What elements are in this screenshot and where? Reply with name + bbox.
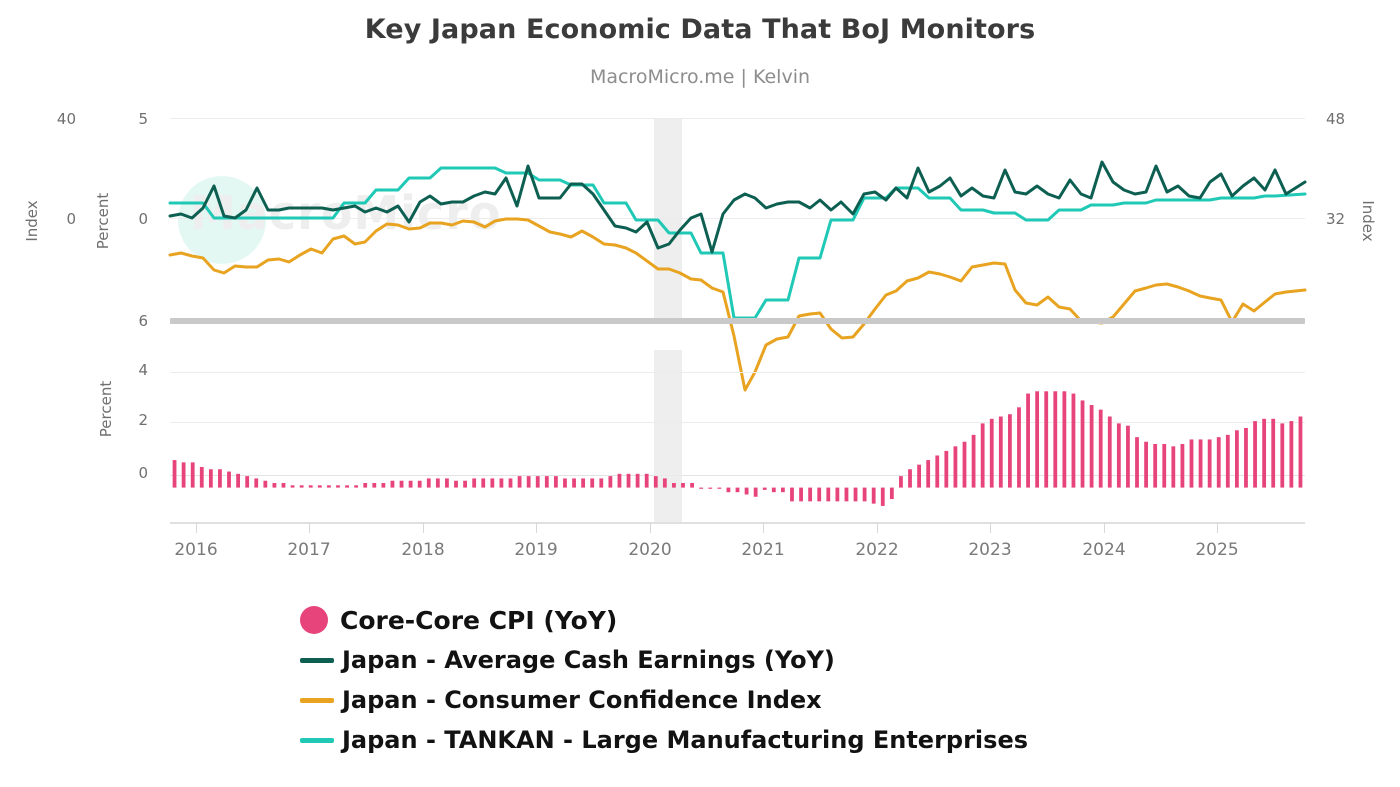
bar-core-core-cpi bbox=[1181, 444, 1185, 488]
bar-core-core-cpi bbox=[200, 467, 204, 488]
bar-core-core-cpi bbox=[1081, 400, 1085, 487]
bar-core-core-cpi bbox=[926, 460, 930, 488]
bar-core-core-cpi bbox=[481, 478, 485, 487]
bar-core-core-cpi bbox=[681, 483, 685, 488]
bar-core-core-cpi bbox=[1217, 437, 1221, 487]
bar-core-core-cpi bbox=[400, 481, 404, 488]
x-tick-5 bbox=[763, 522, 764, 533]
bar-core-core-cpi bbox=[1244, 428, 1248, 488]
bar-core-core-cpi bbox=[345, 485, 349, 487]
legend-line-icon-consumer-confidence-index bbox=[300, 698, 334, 703]
x-tick-label-2019: 2019 bbox=[514, 540, 557, 560]
upper-plot-panel bbox=[170, 118, 1305, 318]
bar-core-core-cpi bbox=[890, 488, 894, 499]
x-tick-label-2017: 2017 bbox=[287, 540, 330, 560]
bar-core-core-cpi bbox=[472, 478, 476, 487]
bar-core-core-cpi bbox=[608, 476, 612, 487]
legend-item-core-core-cpi[interactable]: Core-Core CPI (YoY) bbox=[300, 600, 1200, 640]
bar-core-core-cpi bbox=[618, 474, 622, 488]
legend-label-consumer-confidence-index: Japan - Consumer Confidence Index bbox=[342, 686, 822, 714]
bar-core-core-cpi bbox=[727, 488, 731, 493]
bar-core-core-cpi bbox=[1062, 391, 1066, 487]
bar-core-core-cpi bbox=[1162, 444, 1166, 488]
bar-core-core-cpi bbox=[708, 488, 712, 489]
bar-core-core-cpi bbox=[1035, 391, 1039, 487]
bar-core-core-cpi bbox=[463, 481, 467, 488]
bar-core-core-cpi bbox=[1208, 439, 1212, 487]
x-tick-0 bbox=[196, 522, 197, 533]
bar-core-core-cpi bbox=[500, 478, 504, 487]
bar-core-core-cpi bbox=[717, 488, 721, 489]
bar-core-core-cpi bbox=[1099, 410, 1103, 488]
bar-core-core-cpi bbox=[227, 472, 231, 488]
bar-core-core-cpi bbox=[218, 469, 222, 487]
bar-core-core-cpi bbox=[799, 488, 803, 502]
x-tick-9 bbox=[1217, 522, 1218, 533]
y-tick-index-left-40: 40 bbox=[28, 110, 76, 128]
bar-core-core-cpi bbox=[245, 476, 249, 487]
lower-plot-panel bbox=[170, 350, 1305, 522]
legend-line-icon-average-cash-earnings bbox=[300, 658, 334, 663]
bar-core-core-cpi bbox=[509, 478, 513, 487]
bar-core-core-cpi bbox=[236, 474, 240, 488]
bar-core-core-cpi bbox=[263, 481, 267, 488]
bar-core-core-cpi bbox=[772, 488, 776, 493]
bar-core-core-cpi bbox=[1053, 391, 1057, 487]
bar-core-core-cpi bbox=[826, 488, 830, 502]
bar-core-core-cpi bbox=[1144, 442, 1148, 488]
legend-label-average-cash-earnings: Japan - Average Cash Earnings (YoY) bbox=[342, 646, 835, 674]
bar-core-core-cpi bbox=[908, 469, 912, 487]
bar-core-core-cpi bbox=[300, 485, 304, 487]
bar-core-core-cpi bbox=[699, 488, 703, 489]
bar-core-core-cpi bbox=[972, 435, 976, 488]
bar-core-core-cpi bbox=[1117, 423, 1121, 487]
chart-legend: Core-Core CPI (YoY) Japan - Average Cash… bbox=[300, 600, 1200, 760]
bar-core-core-cpi bbox=[527, 476, 531, 487]
bar-core-core-cpi bbox=[817, 488, 821, 502]
bar-core-core-cpi bbox=[372, 483, 376, 488]
bar-core-core-cpi bbox=[445, 478, 449, 487]
bar-core-core-cpi bbox=[899, 476, 903, 487]
x-tick-6 bbox=[877, 522, 878, 533]
x-tick-label-2016: 2016 bbox=[174, 540, 217, 560]
bar-core-core-cpi bbox=[436, 478, 440, 487]
x-tick-8 bbox=[1104, 522, 1105, 533]
y-tick-index-right-48: 48 bbox=[1326, 110, 1374, 128]
x-tick-label-2018: 2018 bbox=[401, 540, 444, 560]
chart-subtitle: MacroMicro.me | Kelvin bbox=[0, 66, 1400, 88]
bar-core-core-cpi bbox=[736, 488, 740, 493]
bar-core-core-cpi bbox=[391, 481, 395, 488]
x-tick-label-2020: 2020 bbox=[628, 540, 671, 560]
bar-core-core-cpi bbox=[545, 476, 549, 487]
bar-core-core-cpi bbox=[981, 423, 985, 487]
bar-core-core-cpi bbox=[191, 462, 195, 487]
bar-core-core-cpi bbox=[354, 485, 358, 487]
bar-core-core-cpi bbox=[790, 488, 794, 502]
y-axis-title-index-right: Index bbox=[1359, 191, 1377, 251]
bar-core-core-cpi bbox=[872, 488, 876, 504]
bar-core-core-cpi bbox=[381, 483, 385, 488]
bar-core-core-cpi bbox=[336, 485, 340, 487]
y-axis-title-percent-upper: Percent bbox=[94, 181, 112, 261]
bar-core-core-cpi bbox=[291, 485, 295, 487]
chart-title: Key Japan Economic Data That BoJ Monitor… bbox=[0, 14, 1400, 45]
bar-core-core-cpi bbox=[599, 478, 603, 487]
bar-core-core-cpi bbox=[1289, 421, 1293, 488]
legend-dot-icon-core-core-cpi bbox=[300, 606, 328, 634]
bar-core-core-cpi bbox=[1008, 414, 1012, 487]
legend-line-icon-tankan-large-manufacturing bbox=[300, 738, 334, 743]
bar-core-core-cpi bbox=[1090, 405, 1094, 488]
bar-core-core-cpi bbox=[999, 417, 1003, 488]
bar-core-core-cpi bbox=[654, 476, 658, 487]
bar-core-core-cpi bbox=[1226, 435, 1230, 488]
bar-core-core-cpi bbox=[1017, 407, 1021, 487]
y-tick-percent-lower-0: 0 bbox=[100, 464, 148, 482]
bar-core-core-cpi bbox=[273, 483, 277, 488]
bar-core-core-cpi bbox=[690, 483, 694, 488]
upper-series-svg bbox=[170, 118, 1305, 318]
chart-root: Key Japan Economic Data That BoJ Monitor… bbox=[0, 0, 1400, 787]
bar-core-core-cpi bbox=[1280, 423, 1284, 487]
bar-core-core-cpi bbox=[1253, 421, 1257, 488]
bar-core-core-cpi bbox=[944, 451, 948, 488]
legend-item-average-cash-earnings[interactable]: Japan - Average Cash Earnings (YoY) bbox=[300, 640, 1200, 680]
bar-core-core-cpi bbox=[645, 474, 649, 488]
bar-core-core-cpi bbox=[990, 419, 994, 488]
bar-core-core-cpi bbox=[808, 488, 812, 502]
bar-core-core-cpi bbox=[1108, 417, 1112, 488]
bar-core-core-cpi bbox=[636, 474, 640, 488]
bar-core-core-cpi bbox=[427, 478, 431, 487]
bar-core-core-cpi bbox=[282, 483, 286, 488]
bar-core-core-cpi bbox=[327, 485, 331, 487]
bar-core-core-cpi bbox=[1299, 417, 1303, 488]
bar-core-core-cpi bbox=[418, 481, 422, 488]
x-tick-1 bbox=[309, 522, 310, 533]
bar-core-core-cpi bbox=[536, 476, 540, 487]
bar-core-core-cpi bbox=[754, 488, 758, 497]
lower-bars-svg bbox=[170, 350, 1305, 522]
x-tick-label-2022: 2022 bbox=[855, 540, 898, 560]
bar-core-core-cpi bbox=[318, 485, 322, 487]
bar-core-core-cpi bbox=[554, 476, 558, 487]
legend-label-core-core-cpi: Core-Core CPI (YoY) bbox=[340, 606, 617, 635]
y-axis-title-percent-lower: Percent bbox=[97, 369, 115, 449]
bar-core-core-cpi bbox=[209, 469, 213, 487]
x-tick-7 bbox=[990, 522, 991, 533]
bar-core-core-cpi bbox=[672, 483, 676, 488]
panel-divider bbox=[170, 318, 1305, 324]
x-tick-label-2024: 2024 bbox=[1082, 540, 1125, 560]
bar-core-core-cpi bbox=[763, 488, 767, 490]
y-tick-percent-lower-6: 6 bbox=[100, 312, 148, 330]
bar-core-core-cpi bbox=[182, 462, 186, 487]
bar-group-core-core-cpi bbox=[173, 391, 1303, 506]
line-tankan-large-manufacturing bbox=[170, 168, 1305, 318]
x-tick-label-2023: 2023 bbox=[968, 540, 1011, 560]
bar-core-core-cpi bbox=[917, 465, 921, 488]
bar-core-core-cpi bbox=[454, 481, 458, 488]
bar-core-core-cpi bbox=[254, 478, 258, 487]
bar-core-core-cpi bbox=[781, 488, 785, 493]
bar-core-core-cpi bbox=[363, 483, 367, 488]
bar-core-core-cpi bbox=[1044, 391, 1048, 487]
bar-core-core-cpi bbox=[490, 478, 494, 487]
legend-item-tankan-large-manufacturing[interactable]: Japan - TANKAN - Large Manufacturing Ent… bbox=[300, 720, 1200, 760]
bar-core-core-cpi bbox=[854, 488, 858, 502]
bar-core-core-cpi bbox=[590, 478, 594, 487]
bar-core-core-cpi bbox=[1235, 430, 1239, 487]
bar-core-core-cpi bbox=[581, 478, 585, 487]
bar-core-core-cpi bbox=[518, 476, 522, 487]
x-tick-label-2021: 2021 bbox=[741, 540, 784, 560]
bar-core-core-cpi bbox=[563, 478, 567, 487]
bar-core-core-cpi bbox=[572, 478, 576, 487]
bar-core-core-cpi bbox=[835, 488, 839, 502]
bar-core-core-cpi bbox=[1153, 444, 1157, 488]
bar-core-core-cpi bbox=[173, 460, 177, 488]
bar-core-core-cpi bbox=[1135, 437, 1139, 487]
x-tick-2 bbox=[423, 522, 424, 533]
y-axis-title-index-left: Index bbox=[23, 191, 41, 251]
legend-label-tankan-large-manufacturing: Japan - TANKAN - Large Manufacturing Ent… bbox=[342, 726, 1028, 754]
bar-core-core-cpi bbox=[1171, 446, 1175, 487]
bar-core-core-cpi bbox=[935, 455, 939, 487]
bar-core-core-cpi bbox=[1262, 419, 1266, 488]
bar-core-core-cpi bbox=[663, 478, 667, 487]
bar-core-core-cpi bbox=[1199, 439, 1203, 487]
x-tick-3 bbox=[536, 522, 537, 533]
bar-core-core-cpi bbox=[409, 481, 413, 488]
bar-core-core-cpi bbox=[845, 488, 849, 502]
bar-core-core-cpi bbox=[1126, 426, 1130, 488]
bar-core-core-cpi bbox=[863, 488, 867, 502]
bar-core-core-cpi bbox=[1190, 439, 1194, 487]
bar-core-core-cpi bbox=[627, 474, 631, 488]
bar-core-core-cpi bbox=[745, 488, 749, 495]
bar-core-core-cpi bbox=[309, 485, 313, 487]
x-tick-4 bbox=[650, 522, 651, 533]
x-axis-line bbox=[170, 522, 1305, 524]
bar-core-core-cpi bbox=[963, 442, 967, 488]
y-tick-percent-upper-5: 5 bbox=[100, 110, 148, 128]
bar-core-core-cpi bbox=[881, 488, 885, 506]
bar-core-core-cpi bbox=[1026, 394, 1030, 488]
legend-item-consumer-confidence-index[interactable]: Japan - Consumer Confidence Index bbox=[300, 680, 1200, 720]
bar-core-core-cpi bbox=[1271, 419, 1275, 488]
bar-core-core-cpi bbox=[1072, 394, 1076, 488]
x-tick-label-2025: 2025 bbox=[1195, 540, 1238, 560]
bar-core-core-cpi bbox=[954, 446, 958, 487]
